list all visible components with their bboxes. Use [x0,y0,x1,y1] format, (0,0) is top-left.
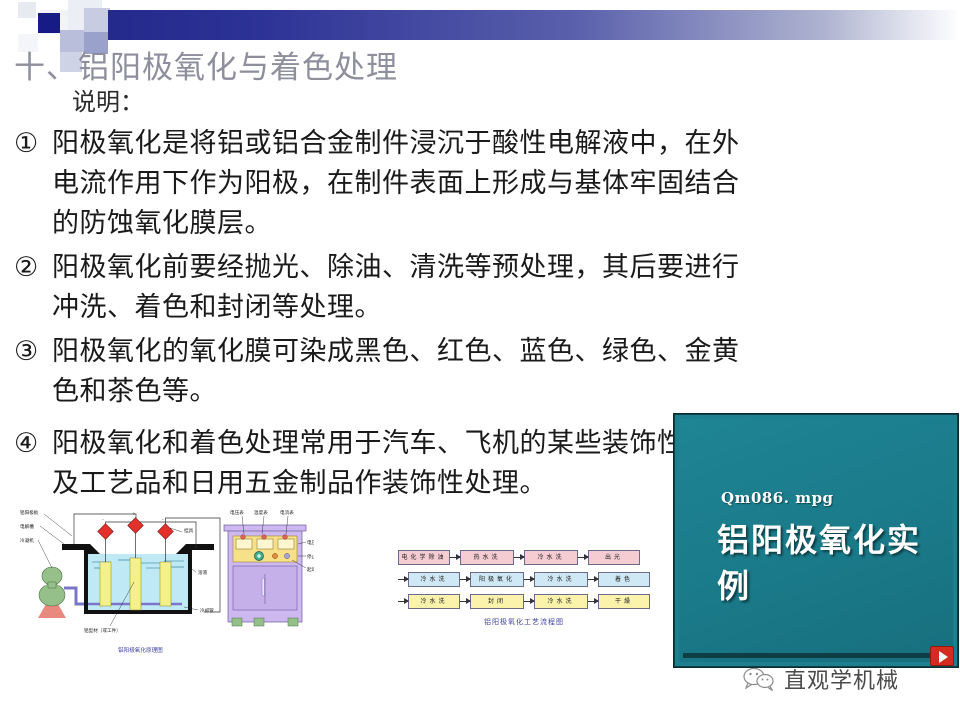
flow-box: 封闭 [470,594,524,609]
flow-box: 冷水洗 [524,550,578,565]
label-voltage-knob: 电压调节钮 [307,539,314,546]
flow-arrow-icon [588,579,598,580]
label-chiller: 冷凝机 [20,537,34,544]
flow-box: 干燥 [598,594,650,609]
flow-row: 冷水洗 封闭 冷水洗 干燥 [398,592,650,610]
flow-arrow-icon [398,601,408,602]
play-button-icon[interactable] [930,646,954,666]
wechat-icon [742,666,776,692]
flow-arrow-icon [588,601,598,602]
list-item-marker: ② [14,248,52,328]
list-item-text: 阳极氧化前要经抛光、除油、清洗等预处理，其后要进行 冲洗、着色和封闭等处理。 [52,248,914,328]
text-line: 电流作用下作为阳极，在制件表面上形成与基体牢固结合 [52,164,914,204]
flow-arrow-icon [514,557,524,558]
label-solution: 溶液 [198,569,208,576]
list-item-marker: ① [14,124,52,244]
text-line: 色和茶色等。 [52,372,914,412]
list-item: ① 阳极氧化是将铝或铝合金制件浸沉于酸性电解液中，在外 电流作用下作为阳极，在制… [14,124,914,244]
subtitle-label: 说明： [72,82,144,117]
control-cabinet [224,525,306,626]
flow-arrow-icon [460,579,470,580]
flow-row: 电化学除油 热水洗 冷水洗 出光 [398,548,650,566]
label-anode-plate: 铝阳极板 [20,509,39,516]
chiller-unit [38,567,84,618]
header-decor-square-pale [18,2,36,18]
header-decor-square-mid [84,8,110,32]
list-item-text: 阳极氧化是将铝或铝合金制件浸沉于酸性电解液中，在外 电流作用下作为阳极，在制件表… [52,124,914,244]
list-item-marker: ③ [14,332,52,412]
flow-box: 冷水洗 [408,572,460,587]
watermark-text: 直观学机械 [784,663,899,695]
flow-arrow-icon [460,601,470,602]
flow-arrow-icon [524,579,534,580]
label-thermometer: 温度表 [254,509,268,516]
flow-diagram-caption: 铝阳极氧化工艺流程图 [398,617,650,627]
label-hanger: 挂具 [184,527,194,534]
label-tank: 电解槽 [20,523,34,530]
header-decor-square-navy [38,13,60,33]
list-item-text: 阳极氧化的氧化膜可染成黑色、红色、蓝色、绿色、金黄 色和茶色等。 [52,332,914,412]
principle-diagram-svg: - + - [14,492,314,662]
text-line: 阳极氧化是将铝或铝合金制件浸沉于酸性电解液中，在外 [52,124,914,164]
text-line: 的防蚀氧化膜层。 [52,204,914,244]
list-item: ③ 阳极氧化的氧化膜可染成黑色、红色、蓝色、绿色、金黄 色和茶色等。 [14,332,914,412]
flow-box: 电化学除油 [398,550,450,565]
flow-row: 冷水洗 阳极氧化 冷水洗 着色 [398,570,650,588]
video-caption: 铝阳极氧化实例 [717,515,953,607]
video-player-overlay[interactable]: Qm086. mpg 铝阳极氧化实例 [674,414,958,667]
flow-arrow-icon [450,557,460,558]
video-bottom-bar [683,653,949,658]
electrode-sign-plus: + [132,511,136,517]
label-ammeter: 电流表 [280,509,294,516]
label-voltmeter: 电压表 [230,509,244,516]
flow-arrow-icon [578,557,588,558]
flow-arrow-icon [398,579,408,580]
flow-box: 着色 [598,572,650,587]
flow-box: 冷水洗 [534,594,588,609]
electrode-sign-minus-left: - [102,518,104,523]
label-stop-button: 停止按钮 [307,553,314,560]
list-item: ② 阳极氧化前要经抛光、除油、清洗等预处理，其后要进行 冲洗、着色和封闭等处理。 [14,248,914,328]
text-line: 阳极氧化前要经抛光、除油、清洗等预处理，其后要进行 [52,248,914,288]
flow-box: 冷水洗 [408,594,460,609]
page-title: 十、铝阳极氧化与着色处理 [14,42,714,87]
flow-box: 热水洗 [460,550,514,565]
anode-plates [100,558,171,610]
flow-arrow-icon [524,601,534,602]
video-filename: Qm086. mpg [721,489,834,507]
anodizing-principle-diagram: - + - [14,492,314,662]
label-cooling-pipe: 冷却管 [200,607,214,614]
text-line: 冲洗、着色和封闭等处理。 [52,288,914,328]
flow-box: 出光 [588,550,640,565]
header-gradient-bar [108,10,960,40]
watermark: 直观学机械 [742,662,899,696]
principle-diagram-caption: 铝阳极氧化原理图 [118,646,163,654]
video-frame[interactable]: Qm086. mpg 铝阳极氧化实例 [679,419,953,662]
label-start-button: 起动按钮 [307,566,314,573]
text-line: 阳极氧化的氧化膜可染成黑色、红色、蓝色、绿色、金黄 [52,332,914,372]
flow-box: 冷水洗 [534,572,588,587]
label-workpiece: 铝型材（或工件） [84,627,121,634]
anodizing-flow-diagram: 电化学除油 热水洗 冷水洗 出光 冷水洗 阳极氧化 冷水洗 着色 冷水洗 封闭 … [398,548,650,644]
flow-box: 阳极氧化 [470,572,524,587]
